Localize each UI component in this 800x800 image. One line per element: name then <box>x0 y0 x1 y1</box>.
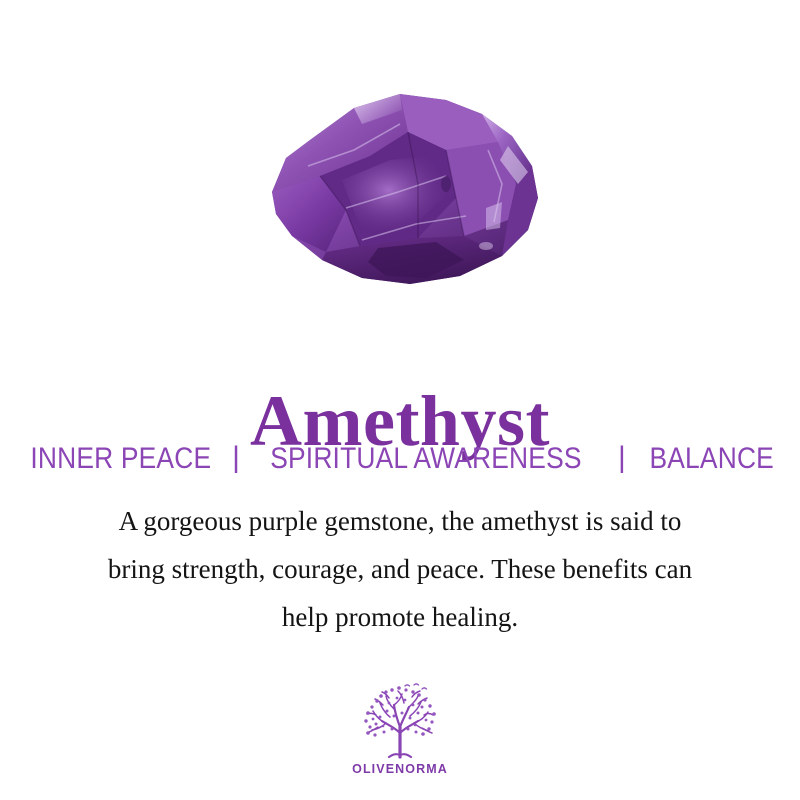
keyword-separator: | <box>603 440 641 476</box>
keyword-spiritual-awareness: SPIRITUAL AWARENESS <box>270 441 581 477</box>
keyword-strip: INNER PEACE|SPIRITUAL AWARENESS|BALANCE <box>0 441 800 477</box>
keyword-inner-peace: INNER PEACE <box>30 441 211 477</box>
keyword-separator: | <box>223 440 249 476</box>
description-line: help promote healing. <box>60 593 740 641</box>
keyword-balance: BALANCE <box>649 441 773 477</box>
amethyst-info-card: Amethyst INNER PEACE|SPIRITUAL AWARENESS… <box>0 0 800 800</box>
amethyst-raw-crystal-icon <box>250 80 550 300</box>
description-text: A gorgeous purple gemstone, the amethyst… <box>60 497 740 641</box>
description-line: A gorgeous purple gemstone, the amethyst… <box>60 497 740 545</box>
brand-name: OLIVENORMA <box>352 762 448 776</box>
gemstone-image <box>0 70 800 310</box>
tree-of-life-icon <box>356 683 444 759</box>
description-line: bring strength, courage, and peace. Thes… <box>60 545 740 593</box>
brand-logo: OLIVENORMA <box>0 683 800 776</box>
